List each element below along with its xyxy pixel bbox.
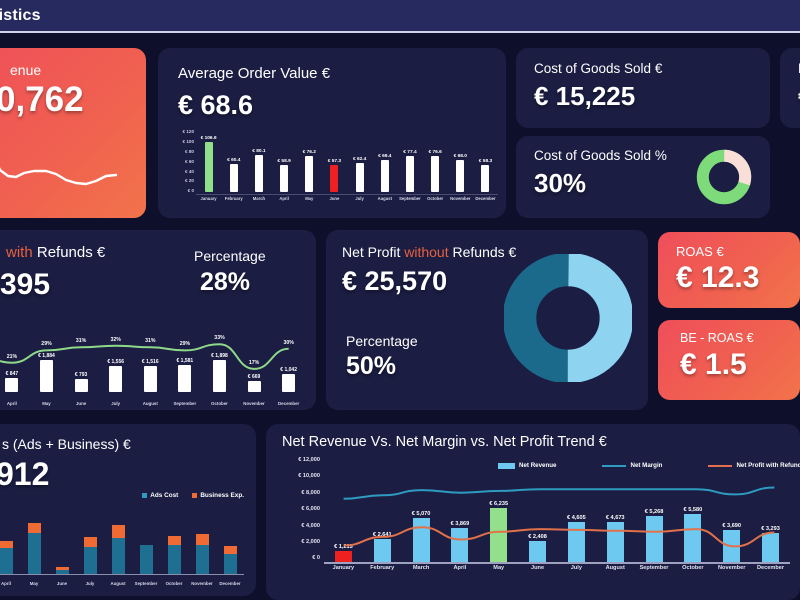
costs-bar-group bbox=[48, 516, 76, 574]
np-title-prefix: Net Profit bbox=[342, 244, 404, 260]
aov-card-value: € 68.6 bbox=[178, 90, 253, 121]
costs-legend-label: Business Exp. bbox=[200, 492, 244, 499]
aov-bar-group: € 60.4 bbox=[221, 130, 246, 192]
costs-month-label: June bbox=[48, 581, 76, 586]
aov-bar-label: € 76.6 bbox=[428, 150, 441, 155]
kpi-card-clipped-right[interactable]: N € bbox=[780, 48, 800, 128]
cogs-donut-chart bbox=[696, 149, 752, 205]
refund-bar-label: € 669 bbox=[248, 374, 261, 380]
costs-bar-stack bbox=[168, 536, 181, 574]
aov-bar-label: € 80.1 bbox=[252, 149, 265, 154]
costs-bar-ads bbox=[28, 533, 41, 574]
aov-bar bbox=[280, 165, 288, 192]
costs-bar-group bbox=[132, 516, 160, 574]
trend-bar bbox=[451, 528, 468, 562]
trend-bar bbox=[646, 516, 663, 562]
refund-bar bbox=[109, 366, 122, 392]
aov-bars: € 106.9€ 60.4€ 80.1€ 58.9€ 76.2€ 57.3€ 6… bbox=[196, 130, 498, 192]
aov-y-tick: € 100 bbox=[183, 140, 195, 145]
aov-month-label: March bbox=[246, 196, 271, 201]
refund-bar-label: € 1,581 bbox=[177, 358, 194, 364]
trend-bar bbox=[335, 551, 352, 562]
np-percentage-label: Percentage bbox=[346, 333, 418, 349]
aov-bar-group: € 58.9 bbox=[272, 130, 297, 192]
kpi-card-revenue[interactable]: enue 0,762 bbox=[0, 48, 146, 218]
costs-bar-stack bbox=[140, 545, 153, 574]
refund-bar-label: € 1,042 bbox=[280, 367, 297, 373]
costs-bar-business bbox=[84, 537, 97, 547]
aov-bar-label: € 58.3 bbox=[479, 159, 492, 164]
refund-bar-label: € 847 bbox=[6, 371, 19, 377]
trend-bar bbox=[762, 533, 779, 562]
trend-y-tick: € 4,000 bbox=[301, 524, 320, 530]
np-refunds-percentage-label: Percentage bbox=[194, 248, 266, 264]
trend-y-tick: € 0 bbox=[312, 556, 320, 562]
aov-bar-group: € 69.4 bbox=[372, 130, 397, 192]
np-refunds-title-suffix: Refunds € bbox=[33, 244, 106, 261]
trend-bar-group: € 5,268 bbox=[635, 458, 674, 562]
aov-month-label: July bbox=[347, 196, 372, 201]
revenue-card-title: enue bbox=[10, 62, 41, 78]
aov-bar-group: € 58.3 bbox=[473, 130, 498, 192]
refund-bars: € 773€ 847€ 1,884€ 793€ 1,556€ 1,516€ 1,… bbox=[0, 350, 306, 392]
costs-legend: Ads CostBusiness Exp. bbox=[142, 492, 244, 499]
aov-y-tick: € 20 bbox=[185, 179, 194, 184]
costs-bar-stack bbox=[112, 525, 125, 574]
trend-month-label: December bbox=[751, 565, 790, 571]
refund-bar bbox=[40, 360, 53, 392]
aov-bar-label: € 57.3 bbox=[328, 159, 341, 164]
aov-month-label: February bbox=[221, 196, 246, 201]
roas-card-title: ROAS € bbox=[676, 244, 724, 259]
page-title: atistics bbox=[0, 7, 41, 25]
aov-bar-label: € 62.4 bbox=[353, 157, 366, 162]
costs-month-label: August bbox=[104, 581, 132, 586]
aov-baseline bbox=[196, 194, 498, 195]
costs-bar-stack bbox=[224, 546, 237, 574]
costs-month-label: September bbox=[132, 581, 160, 586]
cogs-pct-card-title: Cost of Goods Sold % bbox=[534, 148, 667, 163]
chart-card-net-profit-with-refunds[interactable]: with Refunds € 395 Percentage 28% 26%21%… bbox=[0, 230, 316, 410]
costs-bar-group bbox=[20, 516, 48, 574]
trend-bar-label: € 3,690 bbox=[722, 523, 741, 529]
costs-bar-stack bbox=[56, 567, 69, 574]
refund-bar-group: € 793 bbox=[64, 350, 99, 392]
trend-month-label: February bbox=[363, 565, 402, 571]
trend-bar-group: € 2,641 bbox=[363, 458, 402, 562]
aov-bar-group: € 68.0 bbox=[448, 130, 473, 192]
refund-bar-group: € 1,042 bbox=[271, 350, 306, 392]
np-refunds-title-accent: with bbox=[6, 244, 33, 261]
costs-bar-ads bbox=[168, 545, 181, 574]
refund-bar bbox=[248, 381, 261, 392]
trend-month-label: June bbox=[518, 565, 557, 571]
costs-bar-ads bbox=[0, 548, 13, 574]
aov-bar-group: € 77.4 bbox=[397, 130, 422, 192]
revenue-sparkline bbox=[0, 128, 146, 200]
costs-bar-group bbox=[0, 516, 20, 574]
aov-bar-group: € 106.9 bbox=[196, 130, 221, 192]
aov-month-label: November bbox=[448, 196, 473, 201]
trend-bar-label: € 5,070 bbox=[412, 511, 431, 517]
refund-bar bbox=[282, 374, 295, 392]
np-refunds-percentage-value: 28% bbox=[200, 268, 250, 297]
refund-bar-label: € 793 bbox=[75, 372, 88, 378]
aov-bar-label: € 106.9 bbox=[201, 136, 217, 141]
costs-bar-ads bbox=[84, 547, 97, 574]
aov-bar bbox=[381, 160, 389, 192]
net-profit-donut-chart bbox=[504, 254, 632, 382]
trend-bar bbox=[490, 508, 507, 562]
dashboard-root: atistics enue 0,762 Average Order Value … bbox=[0, 0, 800, 600]
refund-month-label: July bbox=[98, 401, 133, 406]
trend-month-label: November bbox=[712, 565, 751, 571]
costs-month-label: July bbox=[76, 581, 104, 586]
net-profit-with-refunds-chart: 26%21%29%31%32%31%29%33%17%30% € 773€ 84… bbox=[0, 324, 312, 406]
np-title-accent: without bbox=[404, 244, 448, 260]
cogs-pct-card-value: 30% bbox=[534, 168, 586, 199]
costs-bars bbox=[0, 516, 244, 574]
aov-month-label: January bbox=[196, 196, 221, 201]
trend-bar-group: € 3,293 bbox=[751, 458, 790, 562]
aov-bar bbox=[205, 142, 213, 192]
trend-month-label: April bbox=[440, 565, 479, 571]
costs-month-label: May bbox=[20, 581, 48, 586]
costs-bar-group bbox=[216, 516, 244, 574]
beroas-card-title: BE - ROAS € bbox=[680, 331, 754, 345]
costs-month-label: April bbox=[0, 581, 20, 586]
np-card-title: Net Profit without Refunds € bbox=[342, 244, 516, 260]
costs-month-label: November bbox=[188, 581, 216, 586]
aov-bar-label: € 76.2 bbox=[303, 150, 316, 155]
refund-bar bbox=[5, 378, 18, 392]
aov-bar-group: € 57.3 bbox=[322, 130, 347, 192]
trend-month-label: March bbox=[402, 565, 441, 571]
trend-y-axis: € 12,000€ 10,000€ 8,000€ 6,000€ 4,000€ 2… bbox=[276, 458, 320, 562]
trend-bar-group: € 5,580 bbox=[673, 458, 712, 562]
refund-bar-label: € 1,884 bbox=[38, 353, 55, 359]
aov-bar bbox=[305, 156, 313, 192]
refund-bar-label: € 1,516 bbox=[142, 359, 159, 365]
kpi-card-cost-of-goods-sold[interactable]: Cost of Goods Sold € € 15,225 bbox=[516, 48, 770, 128]
refund-month-label: September bbox=[168, 401, 203, 406]
refund-bar-label: € 1,898 bbox=[211, 353, 228, 359]
aov-plot-area: € 106.9€ 60.4€ 80.1€ 58.9€ 76.2€ 57.3€ 6… bbox=[196, 130, 498, 194]
aov-month-label: September bbox=[397, 196, 422, 201]
costs-legend-item: Business Exp. bbox=[192, 492, 244, 499]
refund-bar bbox=[213, 360, 226, 392]
trend-bar-group: € 3,690 bbox=[712, 458, 751, 562]
costs-bar-group bbox=[76, 516, 104, 574]
trend-bar-group: € 2,408 bbox=[518, 458, 557, 562]
aov-month-label: October bbox=[423, 196, 448, 201]
aov-bar bbox=[406, 156, 414, 192]
aov-bar bbox=[456, 160, 464, 192]
kpi-card-cost-of-goods-sold-percent[interactable]: Cost of Goods Sold % 30% bbox=[516, 136, 770, 218]
trend-y-tick: € 6,000 bbox=[301, 507, 320, 513]
aov-bar bbox=[255, 155, 263, 192]
aov-y-tick: € 0 bbox=[188, 189, 194, 194]
aov-month-label: May bbox=[297, 196, 322, 201]
refund-bar-group: € 1,884 bbox=[29, 350, 64, 392]
costs-bar-stack bbox=[196, 534, 209, 574]
aov-bar bbox=[230, 164, 238, 192]
refund-month-label: June bbox=[64, 401, 99, 406]
refund-bar-group: € 1,581 bbox=[168, 350, 203, 392]
trend-bar bbox=[374, 539, 391, 562]
costs-bar-stack bbox=[28, 523, 41, 574]
trend-bar-group: € 6,235 bbox=[479, 458, 518, 562]
refund-bar bbox=[178, 365, 191, 392]
costs-bar-group bbox=[104, 516, 132, 574]
aov-bar-group: € 80.1 bbox=[246, 130, 271, 192]
costs-legend-label: Ads Cost bbox=[150, 492, 178, 499]
costs-bar-ads bbox=[196, 545, 209, 574]
costs-baseline bbox=[0, 574, 244, 575]
trend-bar bbox=[684, 514, 701, 562]
trend-bar-group: € 4,605 bbox=[557, 458, 596, 562]
kpi-card-roas[interactable]: ROAS € € 12.3 bbox=[658, 232, 800, 308]
trend-month-label: October bbox=[673, 565, 712, 571]
trend-bar bbox=[607, 522, 624, 562]
aov-bar bbox=[431, 156, 439, 192]
np-percentage-value: 50% bbox=[346, 352, 396, 381]
trend-month-label: May bbox=[479, 565, 518, 571]
refund-bar-label: € 1,556 bbox=[107, 359, 124, 365]
np-card-value: € 25,570 bbox=[342, 266, 447, 297]
aov-y-tick: € 120 bbox=[183, 130, 195, 135]
trend-bar-group: € 3,869 bbox=[440, 458, 479, 562]
trend-baseline bbox=[324, 562, 790, 564]
refund-month-label: May bbox=[29, 401, 64, 406]
trend-bar bbox=[723, 530, 740, 562]
trend-bar-label: € 3,869 bbox=[451, 521, 470, 527]
trend-bar-label: € 5,580 bbox=[684, 507, 703, 513]
np-refunds-card-value: 395 bbox=[0, 268, 50, 302]
aov-bar-label: € 58.9 bbox=[277, 159, 290, 164]
aov-bar-label: € 77.4 bbox=[403, 150, 416, 155]
trend-bar-label: € 3,293 bbox=[761, 526, 780, 532]
trend-bar bbox=[568, 522, 585, 562]
refund-bar bbox=[75, 379, 88, 392]
refund-bar bbox=[144, 366, 157, 392]
kpi-card-net-profit-without-refunds[interactable]: Net Profit without Refunds € € 25,570 Pe… bbox=[326, 230, 648, 410]
costs-card-value: 912 bbox=[0, 456, 49, 493]
costs-bar-business bbox=[224, 546, 237, 554]
np-refunds-card-title: with Refunds € bbox=[6, 244, 105, 261]
aov-bar-group: € 62.4 bbox=[347, 130, 372, 192]
costs-bar-business bbox=[0, 541, 13, 548]
costs-month-label: December bbox=[216, 581, 244, 586]
trend-bar-group: € 1,215 bbox=[324, 458, 363, 562]
trend-month-label: August bbox=[596, 565, 635, 571]
aov-bar-group: € 76.6 bbox=[423, 130, 448, 192]
trend-bar-group: € 4,673 bbox=[596, 458, 635, 562]
refund-bar-group: € 847 bbox=[0, 350, 29, 392]
kpi-card-be-roas[interactable]: BE - ROAS € € 1.5 bbox=[658, 320, 800, 400]
aov-y-tick: € 40 bbox=[185, 170, 194, 175]
chart-card-total-costs[interactable]: s (Ads + Business) € 912 Ads CostBusines… bbox=[0, 424, 256, 596]
trend-bar bbox=[529, 541, 546, 562]
refund-month-label: April bbox=[0, 401, 29, 406]
trend-bar-label: € 1,215 bbox=[334, 544, 353, 550]
costs-bar-group bbox=[160, 516, 188, 574]
trend-y-tick: € 10,000 bbox=[298, 474, 320, 480]
trend-x-axis: JanuaryFebruaryMarchAprilMayJuneJulyAugu… bbox=[324, 565, 790, 571]
trend-plot-area: € 1,215€ 2,641€ 5,070€ 3,869€ 6,235€ 2,4… bbox=[324, 458, 790, 562]
trend-bars: € 1,215€ 2,641€ 5,070€ 3,869€ 6,235€ 2,4… bbox=[324, 458, 790, 562]
costs-bar-stack bbox=[84, 537, 97, 574]
refund-month-label: November bbox=[237, 401, 272, 406]
refund-bar-group: € 1,898 bbox=[202, 350, 237, 392]
chart-card-net-revenue-trend[interactable]: Net Revenue Vs. Net Margin vs. Net Profi… bbox=[266, 424, 800, 600]
aov-y-axis: € 120€ 100€ 80€ 60€ 40€ 20€ 0 bbox=[166, 130, 194, 194]
roas-card-value: € 12.3 bbox=[676, 261, 759, 295]
costs-bar-business bbox=[112, 525, 125, 538]
trend-bar bbox=[413, 518, 430, 562]
aov-bar bbox=[356, 163, 364, 192]
costs-bar-group bbox=[188, 516, 216, 574]
costs-bar-stack bbox=[0, 541, 13, 574]
trend-bar-label: € 4,605 bbox=[567, 515, 586, 521]
chart-card-average-order-value[interactable]: Average Order Value € € 68.6 € 120€ 100€… bbox=[158, 48, 506, 218]
app-header: atistics bbox=[0, 0, 800, 33]
costs-bar-business bbox=[168, 536, 181, 545]
aov-y-tick: € 80 bbox=[185, 150, 194, 155]
costs-month-label: October bbox=[160, 581, 188, 586]
costs-card-title: s (Ads + Business) € bbox=[2, 436, 131, 452]
refund-bar-group: € 1,516 bbox=[133, 350, 168, 392]
cogs-card-value: € 15,225 bbox=[534, 81, 635, 112]
costs-legend-swatch bbox=[192, 493, 197, 498]
aov-bar bbox=[330, 165, 338, 192]
refund-month-label: October bbox=[202, 401, 237, 406]
trend-plot: € 12,000€ 10,000€ 8,000€ 6,000€ 4,000€ 2… bbox=[276, 458, 792, 592]
cogs-card-title: Cost of Goods Sold € bbox=[534, 61, 662, 76]
costs-x-axis: MarchAprilMayJuneJulyAugustSeptemberOcto… bbox=[0, 581, 244, 586]
trend-bar-label: € 2,641 bbox=[373, 532, 392, 538]
trend-month-label: July bbox=[557, 565, 596, 571]
trend-month-label: January bbox=[324, 565, 363, 571]
trend-y-tick: € 12,000 bbox=[298, 458, 320, 464]
aov-y-tick: € 60 bbox=[185, 160, 194, 165]
trend-y-tick: € 2,000 bbox=[301, 540, 320, 546]
trend-bar-label: € 5,268 bbox=[645, 509, 664, 515]
trend-bar-group: € 5,070 bbox=[402, 458, 441, 562]
aov-month-label: April bbox=[272, 196, 297, 201]
aov-card-title: Average Order Value € bbox=[178, 65, 330, 82]
aov-bar-label: € 69.4 bbox=[378, 154, 391, 159]
costs-legend-item: Ads Cost bbox=[142, 492, 178, 499]
trend-bar-label: € 4,673 bbox=[606, 515, 625, 521]
aov-month-label: August bbox=[372, 196, 397, 201]
total-costs-chart: MarchAprilMayJuneJulyAugustSeptemberOcto… bbox=[0, 514, 244, 586]
aov-bar-label: € 68.0 bbox=[454, 154, 467, 159]
trend-month-label: September bbox=[635, 565, 674, 571]
trend-bar-label: € 2,408 bbox=[528, 534, 547, 540]
aov-chart: € 120€ 100€ 80€ 60€ 40€ 20€ 0 € 106.9€ 6… bbox=[166, 130, 500, 212]
aov-month-label: June bbox=[322, 196, 347, 201]
revenue-card-value: 0,762 bbox=[0, 80, 84, 120]
aov-bar bbox=[481, 165, 489, 192]
aov-bar-group: € 76.2 bbox=[297, 130, 322, 192]
refund-month-label: August bbox=[133, 401, 168, 406]
trend-bar-label: € 6,235 bbox=[489, 501, 508, 507]
trend-card-title: Net Revenue Vs. Net Margin vs. Net Profi… bbox=[282, 434, 607, 450]
trend-y-tick: € 8,000 bbox=[301, 491, 320, 497]
costs-bar-ads bbox=[140, 545, 153, 574]
refund-x-axis: MarchAprilMayJuneJulyAugustSeptemberOcto… bbox=[0, 401, 306, 406]
aov-month-label: December bbox=[473, 196, 498, 201]
costs-bar-business bbox=[196, 534, 209, 545]
costs-bar-business bbox=[28, 523, 41, 533]
aov-x-axis: JanuaryFebruaryMarchAprilMayJuneJulyAugu… bbox=[196, 196, 498, 201]
costs-legend-swatch bbox=[142, 493, 147, 498]
costs-bar-ads bbox=[112, 538, 125, 574]
costs-bar-ads bbox=[224, 554, 237, 574]
refund-bar-group: € 669 bbox=[237, 350, 272, 392]
aov-bar-label: € 60.4 bbox=[227, 158, 240, 163]
refund-month-label: December bbox=[271, 401, 306, 406]
beroas-card-value: € 1.5 bbox=[680, 348, 747, 382]
refund-bar-group: € 1,556 bbox=[98, 350, 133, 392]
